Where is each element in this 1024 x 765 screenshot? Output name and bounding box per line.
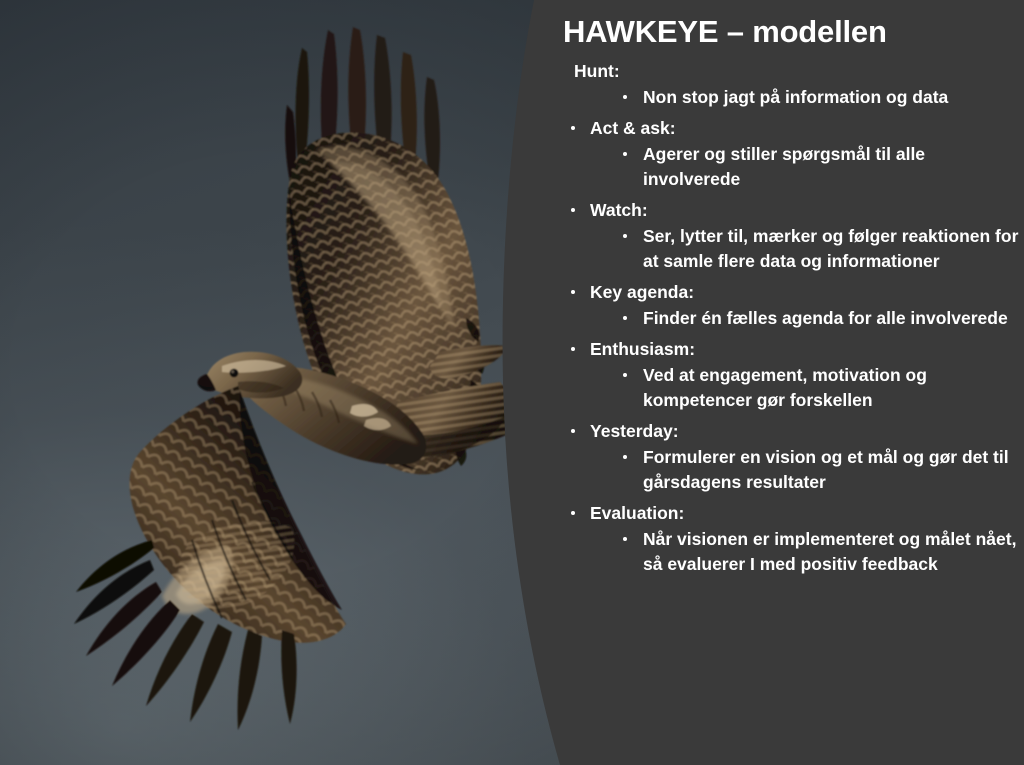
list-item-enthusiasm: Enthusiasm:: [560, 336, 1024, 362]
sub-item-enthusiasm-1: Ved at engagement, motivation og kompete…: [560, 363, 1024, 413]
sub-item-text: Ved at engagement, motivation og kompete…: [643, 363, 1024, 413]
list-item-watch: Watch:: [560, 197, 1024, 223]
bullet-icon: [623, 537, 627, 541]
sub-item-text: Non stop jagt på information og data: [643, 85, 1024, 110]
bullet-icon: [623, 95, 627, 99]
bullet-icon: [571, 511, 575, 515]
head: [197, 352, 302, 399]
bullet-icon: [623, 373, 627, 377]
sub-item-yesterday-1: Formulerer en vision og et mål og gør de…: [560, 445, 1024, 495]
list-item-label: Key agenda:: [590, 279, 1024, 305]
slide-content: HAWKEYE – modellen Hunt: Non stop jagt p…: [560, 0, 1024, 765]
hawkeye-list: Hunt: Non stop jagt på information og da…: [560, 58, 1024, 578]
list-item-label: Act & ask:: [590, 115, 1024, 141]
bullet-icon: [623, 152, 627, 156]
list-item-label: Enthusiasm:: [590, 336, 1024, 362]
list-item-label: Evaluation:: [590, 500, 1024, 526]
sub-item-text: Ser, lytter til, mærker og følger reakti…: [643, 224, 1024, 274]
page-title: HAWKEYE – modellen: [563, 14, 887, 50]
bullet-icon: [623, 455, 627, 459]
bullet-icon: [571, 126, 575, 130]
sub-item-act-and-ask-1: Agerer og stiller spørgsmål til alle inv…: [560, 142, 1024, 192]
sub-item-hunt-1: Non stop jagt på information og data: [560, 85, 1024, 110]
list-item-label: Hunt:: [574, 58, 1024, 84]
bullet-icon: [571, 347, 575, 351]
bullet-icon: [623, 234, 627, 238]
sub-item-text: Formulerer en vision og et mål og gør de…: [643, 445, 1024, 495]
list-item-label: Yesterday:: [590, 418, 1024, 444]
sub-item-text: Når visionen er implementeret og målet n…: [643, 527, 1024, 577]
list-item-evaluation: Evaluation:: [560, 500, 1024, 526]
list-item-act-and-ask: Act & ask:: [560, 115, 1024, 141]
sub-item-text: Agerer og stiller spørgsmål til alle inv…: [643, 142, 1024, 192]
sub-item-text: Finder én fælles agenda for alle involve…: [643, 306, 1024, 331]
bullet-icon: [571, 429, 575, 433]
list-item-hunt: Hunt:: [560, 58, 1024, 84]
sub-item-key-agenda-1: Finder én fælles agenda for alle involve…: [560, 306, 1024, 331]
bullet-icon: [571, 290, 575, 294]
sub-item-watch-1: Ser, lytter til, mærker og følger reakti…: [560, 224, 1024, 274]
list-item-yesterday: Yesterday:: [560, 418, 1024, 444]
list-item-key-agenda: Key agenda:: [560, 279, 1024, 305]
bullet-icon: [571, 208, 575, 212]
sub-item-evaluation-1: Når visionen er implementeret og målet n…: [560, 527, 1024, 577]
slide: HAWKEYE – modellen Hunt: Non stop jagt p…: [0, 0, 1024, 765]
bullet-icon: [623, 316, 627, 320]
list-item-label: Watch:: [590, 197, 1024, 223]
